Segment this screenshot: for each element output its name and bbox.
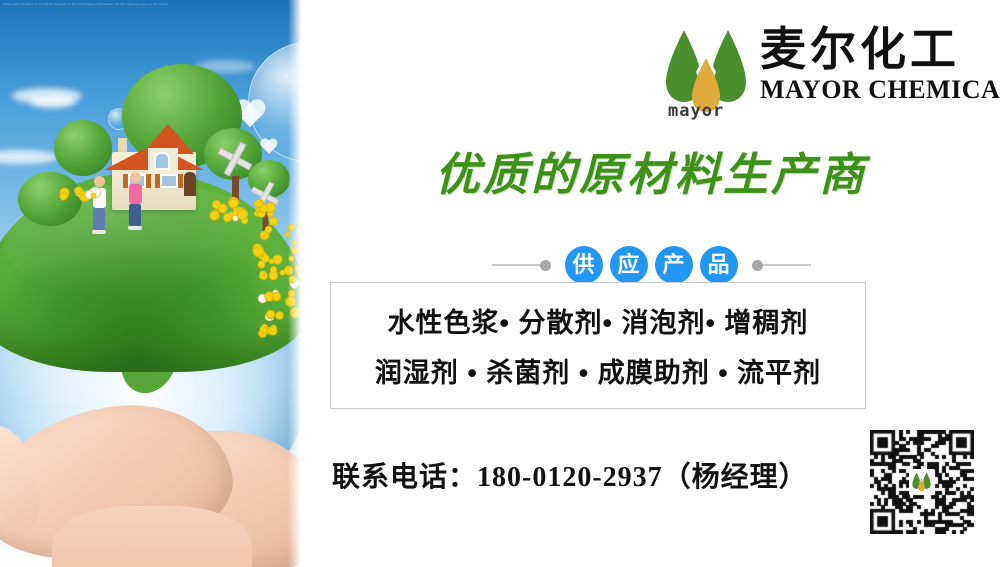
cloud-shape <box>30 96 76 108</box>
contact-phone-text: 联系电话：180-0120-2937（杨经理） <box>332 455 808 495</box>
house-illustration <box>98 118 210 210</box>
flower-dot <box>270 266 277 273</box>
flower-dot <box>269 259 274 264</box>
qr-code[interactable] <box>870 430 974 534</box>
mayor-droplet-m-logo-icon: mayor <box>664 24 752 120</box>
child-shoes <box>92 230 106 234</box>
hero-image-panel: theory and statistics in the Ph.D. progr… <box>0 0 302 567</box>
poster-canvas: theory and statistics in the Ph.D. progr… <box>0 0 1000 567</box>
badge-group: 供 应 产 品 <box>565 246 738 284</box>
watermark-text: theory and statistics in the Ph.D. progr… <box>3 2 183 7</box>
badge-circle: 品 <box>700 246 738 284</box>
child-legs <box>129 204 141 226</box>
flower-dot <box>209 210 219 220</box>
products-box: 水性色浆• 分散剂• 消泡剂• 增稠剂 润湿剂 • 杀菌剂 • 成膜助剂 • 流… <box>330 282 866 409</box>
windmill-blades <box>218 142 252 176</box>
company-name-en: MAYOR CHEMICAL <box>760 76 1000 105</box>
door-shape <box>184 172 196 196</box>
shutter-shape <box>155 174 160 188</box>
flower-dot <box>258 261 266 269</box>
dot-left <box>540 260 551 271</box>
products-line-2: 润湿剂 • 杀菌剂 • 成膜助剂 • 流平剂 <box>375 351 821 390</box>
shutter-shape <box>146 174 151 188</box>
flower-dot <box>212 199 221 208</box>
badge-circle: 应 <box>610 246 648 284</box>
flower-dot <box>272 292 281 301</box>
window-shape <box>154 152 170 170</box>
brand-lockup: mayor 麦尔化工 MAYOR CHEMICAL <box>664 24 1000 120</box>
child-legs <box>93 208 105 230</box>
qr-center-logo-icon <box>909 469 935 495</box>
badge-circle: 产 <box>655 246 693 284</box>
child-figure <box>92 176 106 234</box>
flower-dot <box>60 192 68 200</box>
badge-circle: 供 <box>565 246 603 284</box>
headline-text: 优质的原材料生产商 <box>302 138 1000 203</box>
rule-right <box>763 264 811 266</box>
content-panel: mayor 麦尔化工 MAYOR CHEMICAL 优质的原材料生产商 供 应 … <box>302 0 1000 567</box>
company-name-cn: 麦尔化工 <box>760 26 1000 75</box>
flower-dot <box>223 213 232 222</box>
hands-illustration <box>0 398 302 567</box>
flower-dot <box>280 270 286 276</box>
child-shoes <box>128 226 142 230</box>
flower-dot <box>266 309 275 318</box>
flower-dot <box>254 199 263 208</box>
heart-icon <box>260 139 279 156</box>
cloud-shape <box>0 150 58 164</box>
logo-wordmark-text: mayor <box>668 101 724 120</box>
dot-right <box>752 260 763 271</box>
child-head <box>130 172 141 183</box>
section-heading: 供 应 产 品 <box>302 246 1000 284</box>
brand-text-block: 麦尔化工 MAYOR CHEMICAL <box>760 24 1000 104</box>
child-body <box>129 184 142 204</box>
shutter-shape <box>178 174 183 188</box>
flower-dot <box>269 324 276 331</box>
child-figure <box>128 172 142 230</box>
qr-code-matrix <box>870 430 974 534</box>
flower-dot <box>275 311 283 319</box>
flower-dot <box>273 255 283 265</box>
products-line-1: 水性色浆• 分散剂• 消泡剂• 增稠剂 <box>388 301 809 340</box>
hero-edge-fade <box>288 0 302 567</box>
flower-patch <box>58 186 102 202</box>
window-shape <box>160 174 178 188</box>
flower-dot <box>265 226 272 233</box>
wrist-shape <box>52 506 252 567</box>
rule-left <box>492 264 540 266</box>
